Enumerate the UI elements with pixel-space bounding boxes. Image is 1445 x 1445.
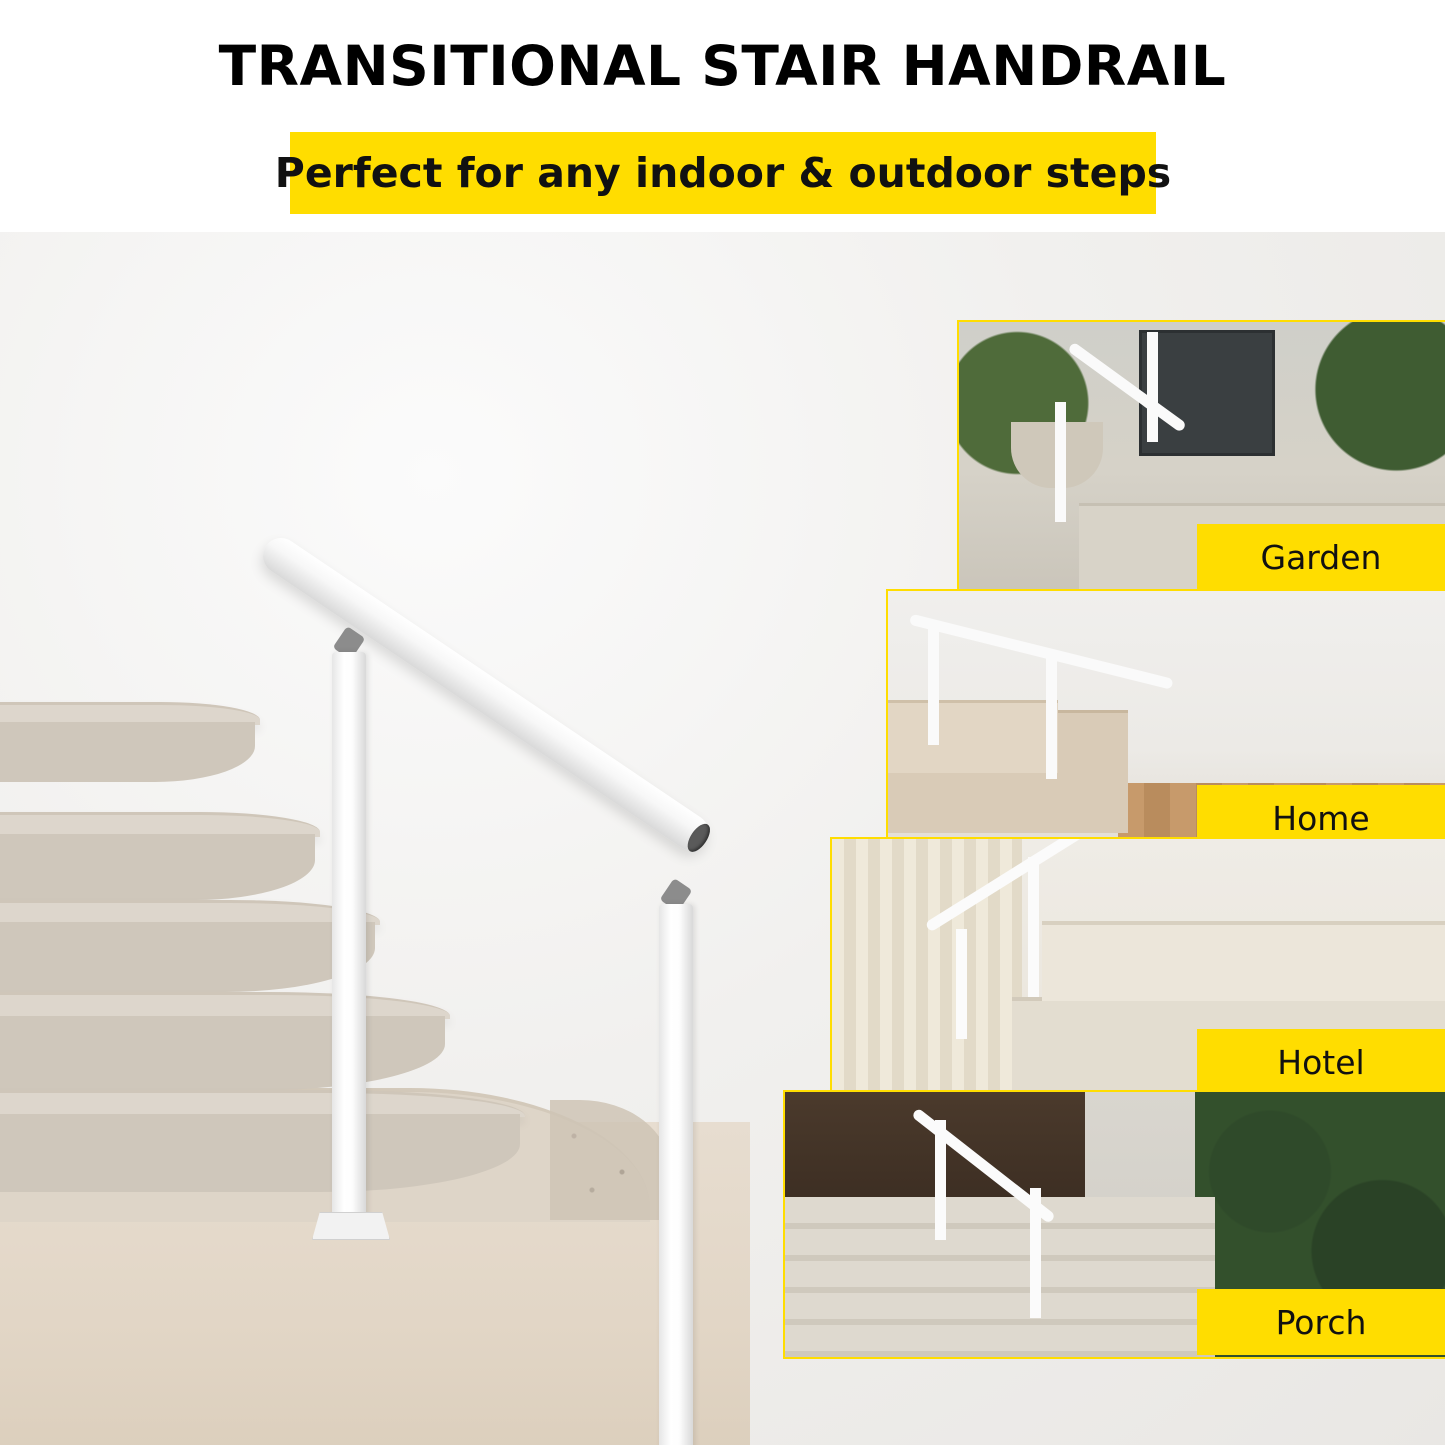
porch-handrail-post: [1030, 1188, 1041, 1318]
stair-step-face: [0, 1114, 520, 1192]
stone-speckle-edge: [550, 1100, 670, 1220]
porch-steps: [785, 1197, 1215, 1357]
hero-image: Garden Home: [0, 232, 1445, 1445]
stair-step-face: [0, 722, 255, 782]
home-step: [888, 700, 1058, 773]
garden-door: [1139, 330, 1275, 456]
porch-handrail-post: [935, 1120, 946, 1240]
home-handrail-bar: [909, 614, 1174, 690]
hotel-textured-wall: [832, 839, 1022, 1097]
home-handrail-post: [928, 625, 939, 745]
hotel-step: [1042, 921, 1445, 1001]
label-porch-text: Porch: [1276, 1303, 1367, 1342]
garden-handrail-post: [1147, 332, 1158, 442]
stair-step-face: [0, 1016, 445, 1090]
subtitle-banner: Perfect for any indoor & outdoor steps: [290, 132, 1156, 214]
label-home-text: Home: [1272, 799, 1369, 838]
handrail-post: [332, 652, 366, 1222]
label-hotel: Hotel: [1197, 1029, 1445, 1095]
stair-step-face: [0, 922, 375, 992]
page-subtitle: Perfect for any indoor & outdoor steps: [275, 149, 1171, 197]
garden-handrail-post: [1055, 402, 1066, 522]
hotel-handrail-post: [1028, 857, 1039, 997]
page-title: TRANSITIONAL STAIR HANDRAIL: [0, 34, 1445, 98]
label-garden-text: Garden: [1261, 538, 1382, 577]
hotel-handrail-post: [956, 929, 967, 1039]
label-hotel-text: Hotel: [1277, 1043, 1364, 1082]
label-garden: Garden: [1197, 524, 1445, 590]
product-banner: TRANSITIONAL STAIR HANDRAIL Perfect for …: [0, 0, 1445, 1445]
handrail-base-plate: [312, 1212, 390, 1240]
stair-step-face: [0, 834, 315, 900]
handrail-post: [659, 904, 693, 1445]
home-handrail-post: [1046, 653, 1057, 779]
stair-step: [0, 992, 450, 1019]
label-porch: Porch: [1197, 1289, 1445, 1355]
